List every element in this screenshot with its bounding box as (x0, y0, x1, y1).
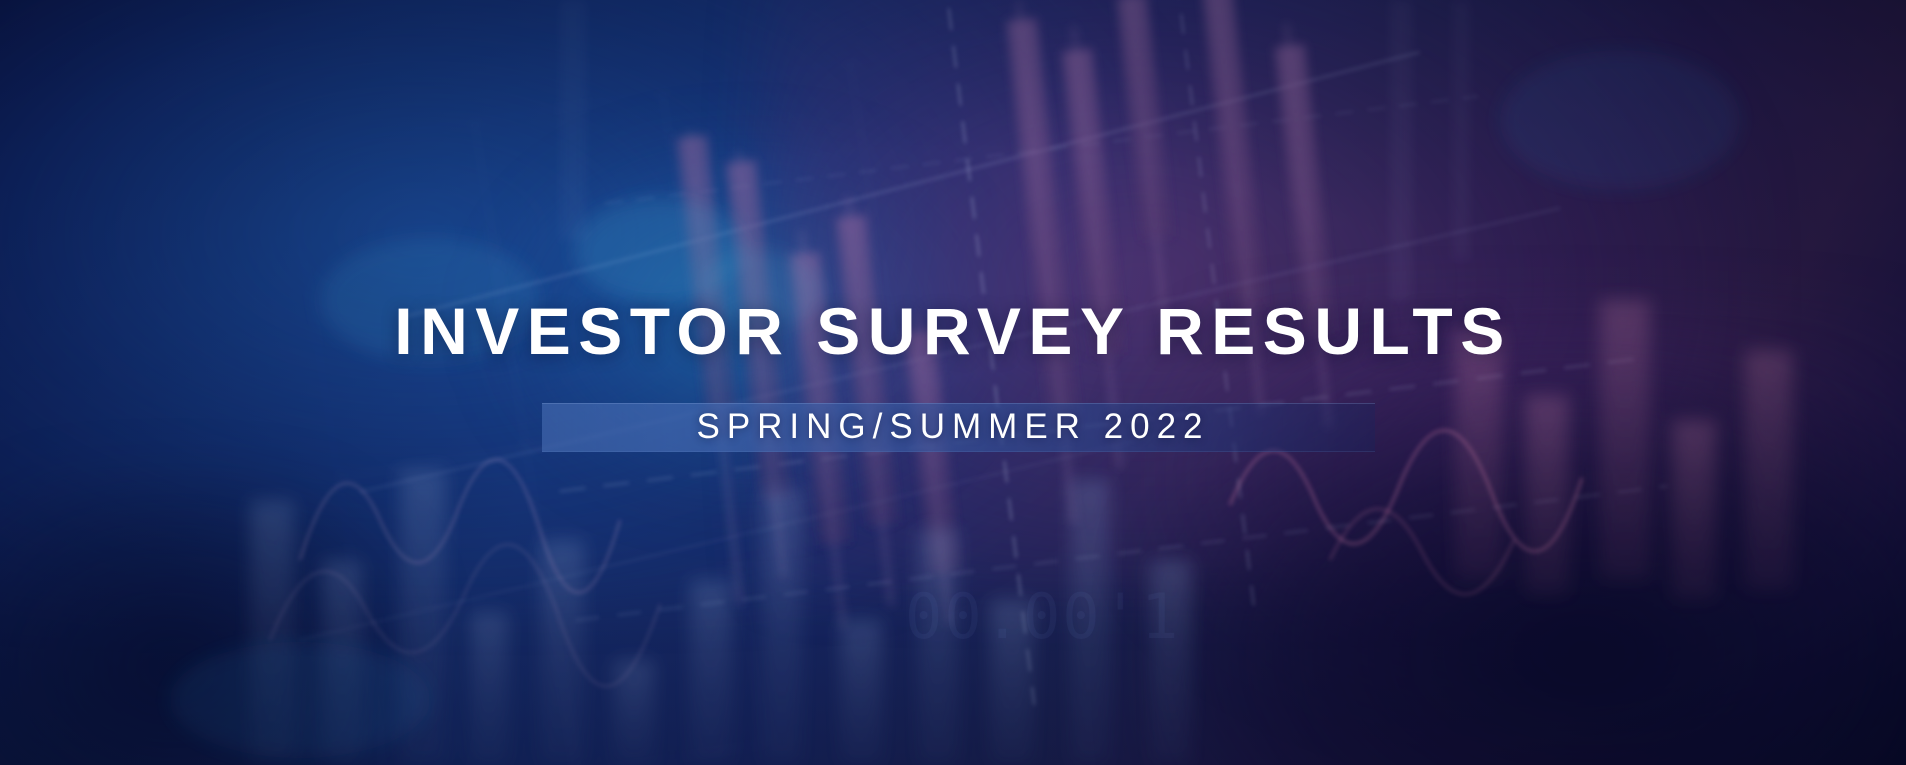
page-title: INVESTOR SURVEY RESULTS (0, 298, 1906, 364)
hero-text-block: INVESTOR SURVEY RESULTS (0, 298, 1906, 364)
page-subtitle: SPRING/SUMMER 2022 (0, 405, 1906, 449)
hero-banner: 00.00'1 INVESTOR SURVEY RESULTS SPRING/S… (0, 0, 1906, 765)
ghost-numerals: 00.00'1 (905, 580, 1180, 653)
